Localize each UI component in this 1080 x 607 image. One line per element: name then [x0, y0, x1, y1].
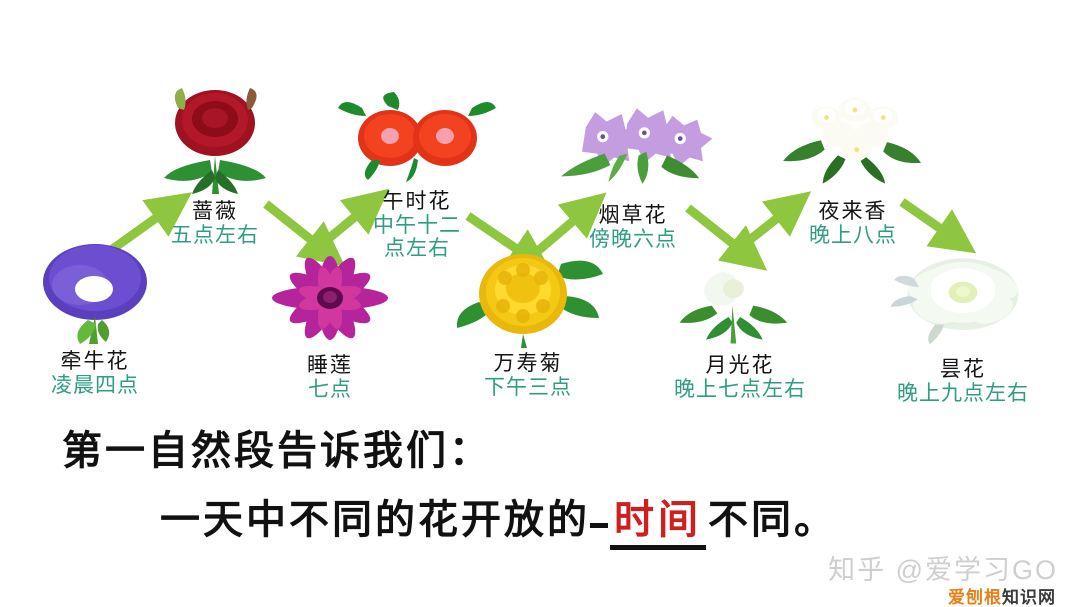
- tobacco-flower-labels: 烟草花 傍晚六点: [548, 204, 718, 251]
- flower-time: 晚上九点左右: [878, 382, 1048, 406]
- flower-name: 牵牛花: [10, 350, 180, 374]
- flower-name: 昙花: [878, 358, 1048, 382]
- marigold-illustration: [443, 240, 613, 350]
- marigold-labels: 万寿菊 下午三点: [443, 352, 613, 399]
- moonflower-labels: 月光花 晚上七点左右: [655, 354, 825, 401]
- site-watermark-suffix: 知识网: [1002, 588, 1056, 607]
- blank-underline-lead: [590, 523, 608, 528]
- site-watermark-brand: 爱刨根: [948, 588, 1002, 607]
- sentence-line-1: 第一自然段告诉我们：: [62, 418, 492, 476]
- moonflower-illustration: [655, 248, 825, 352]
- epiphyllum-labels: 昙花 晚上九点左右: [878, 358, 1048, 405]
- flower-time: 七点: [245, 378, 415, 402]
- noon-flower-illustration: [332, 86, 502, 186]
- flower-node-tuberose: 夜来香 晚上八点: [768, 88, 938, 247]
- flower-time: 中午十二: [332, 214, 502, 238]
- fill-in-answer: 时间: [610, 497, 706, 550]
- morning-glory-illustration: [10, 240, 180, 350]
- flower-node-tobacco-flower: 烟草花 傍晚六点: [548, 92, 718, 251]
- slide-canvas: 牵牛花 凌晨四点 蔷薇 五点左右: [0, 0, 1080, 607]
- flower-name: 月光花: [655, 354, 825, 378]
- zhihu-watermark: 知乎 @爱学习GO: [828, 548, 1058, 587]
- rose-illustration: [130, 78, 300, 198]
- morning-glory-labels: 牵牛花 凌晨四点: [10, 350, 180, 397]
- tobacco-flower-illustration: [548, 92, 718, 204]
- site-watermark: 爱刨根知识网: [948, 583, 1056, 607]
- flower-time: 下午三点: [443, 376, 613, 400]
- flower-name: 午时花: [332, 190, 502, 214]
- sentence-prefix: 一天中不同的花开放的: [160, 497, 590, 542]
- flower-name: 蔷薇: [130, 200, 300, 224]
- flower-name: 睡莲: [245, 354, 415, 378]
- flower-node-morning-glory: 牵牛花 凌晨四点: [10, 240, 180, 397]
- flower-name: 烟草花: [548, 204, 718, 228]
- tuberose-illustration: [768, 88, 938, 200]
- flower-time: 五点左右: [130, 224, 300, 248]
- sentence-suffix: 不同。: [708, 497, 837, 542]
- epiphyllum-illustration: [878, 236, 1048, 356]
- flower-node-noon-flower: 午时花 中午十二 点左右: [332, 86, 502, 261]
- flower-node-water-lily: 睡莲 七点: [245, 248, 415, 401]
- flower-node-epiphyllum: 昙花 晚上九点左右: [878, 236, 1048, 405]
- flower-time: 晚上七点左右: [655, 378, 825, 402]
- water-lily-labels: 睡莲 七点: [245, 354, 415, 401]
- flower-node-moonflower: 月光花 晚上七点左右: [655, 248, 825, 401]
- flower-node-rose: 蔷薇 五点左右: [130, 78, 300, 247]
- rose-labels: 蔷薇 五点左右: [130, 200, 300, 247]
- flower-time: 凌晨四点: [10, 374, 180, 398]
- flower-node-marigold: 万寿菊 下午三点: [443, 240, 613, 399]
- flower-name: 万寿菊: [443, 352, 613, 376]
- water-lily-illustration: [245, 248, 415, 350]
- flower-name: 夜来香: [768, 200, 938, 224]
- sentence-line-2: 一天中不同的花开放的时间不同。: [160, 487, 837, 545]
